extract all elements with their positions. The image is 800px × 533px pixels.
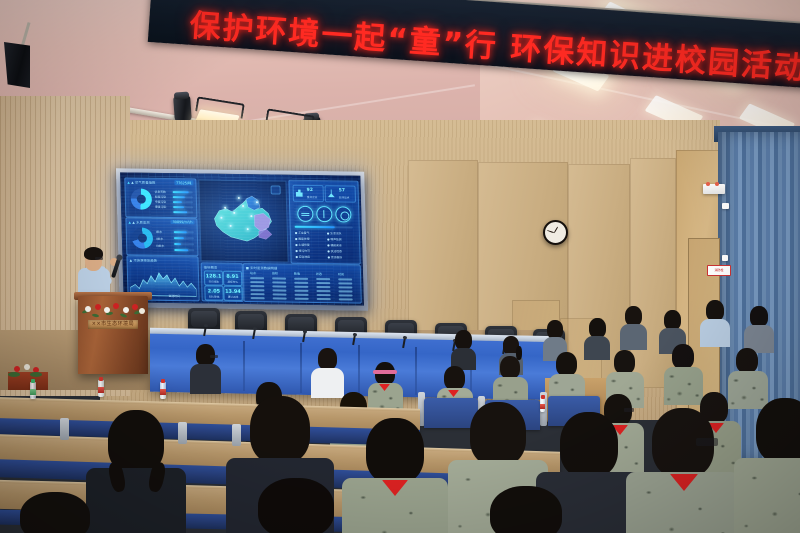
legend-label: II类水 <box>156 237 163 241</box>
bar-ammonia <box>174 237 184 239</box>
kpi-label: 累计减排 <box>225 295 242 299</box>
dashboard-display: ▲ ▲ 空气质量指数 77625/吨 优良天数 轻度污染 中度污染 重度污染 <box>120 172 364 305</box>
map-node <box>256 201 258 203</box>
stat-tile-enterprises: 92 重点企业 <box>293 185 324 202</box>
dashboard-card-kpis: 指标概览 128.1 日均排放 8.91 超标率% 2.05 同比降幅 13.9… <box>201 262 244 302</box>
wall-clock <box>543 220 568 245</box>
legend-label: I类水 <box>156 230 163 234</box>
kpi-box: 2.05 同比降幅 <box>204 285 223 300</box>
flower <box>24 364 30 370</box>
bar-phosphorus <box>174 243 181 245</box>
card-badge: 30899/m³/h <box>171 220 195 224</box>
bar-pm25 <box>173 191 189 193</box>
fire-safety-sign: 消防栓 <box>707 265 731 276</box>
stat-label: 监测站点 <box>339 195 349 199</box>
dashboard-card-data-table: ■ 实时监测数据明细 站点 指标 数值 状态 时间 <box>243 263 362 304</box>
region-map-card <box>198 179 288 262</box>
legend-label: III类水 <box>156 244 164 248</box>
table-column-header: 数值 <box>294 272 300 276</box>
glasses <box>210 355 218 358</box>
card-title: 指标概览 <box>204 264 218 269</box>
map-node <box>220 217 222 219</box>
stat-value: 57 <box>339 188 345 193</box>
photo-scene: 保护环境一起“童”行 环保知识进校园活动 <box>0 0 800 533</box>
emergency-exit-light <box>703 184 725 194</box>
seat-bracket <box>178 422 187 444</box>
par-can-light <box>173 95 192 122</box>
kpi-box: 128.1 日均排放 <box>204 270 223 285</box>
water-bottle <box>540 398 545 412</box>
skirt-fold <box>243 341 245 391</box>
glasses <box>624 408 634 412</box>
card-title: ▲ ▲ 空气质量指数 <box>127 179 155 184</box>
ring-gauge-icon <box>297 206 313 222</box>
province-map <box>208 193 280 250</box>
legend-label: 优良天数 <box>155 190 166 194</box>
right-bar <box>295 226 335 229</box>
kpi-box: 8.91 超标率% <box>223 271 242 286</box>
legend-label: 轻度污染 <box>155 195 166 199</box>
donut-chart <box>132 227 154 248</box>
stat-tile-stations: 57 监测站点 <box>325 185 356 202</box>
map-node <box>233 212 235 214</box>
dashboard-card-water-quality: ▲ ▲ 水质监测 30899/m³/h I类水 II类水 III类水 <box>125 217 198 256</box>
stat-label: 重点企业 <box>307 194 317 198</box>
card-badge: 77625/吨 <box>174 180 193 185</box>
presenter-glasses <box>95 257 103 260</box>
table-column-header: 时间 <box>338 272 344 276</box>
kpi-value: 8.91 <box>224 273 241 279</box>
kpi-value: 13.94 <box>224 288 241 294</box>
table-column-header: 状态 <box>316 272 322 276</box>
stat-value: 92 <box>307 188 313 193</box>
table-column-header: 指标 <box>272 271 278 275</box>
flower-arrangement <box>80 298 146 320</box>
ring-gauge-icon <box>335 206 351 222</box>
led-video-wall[interactable]: ▲ ▲ 空气质量指数 77625/吨 优良天数 轻度污染 中度污染 重度污染 <box>120 172 364 305</box>
bar-oxygen <box>174 249 188 251</box>
ring-gauge-icon <box>316 206 332 222</box>
map-node <box>230 225 232 227</box>
water-bottle <box>160 382 166 399</box>
ceiling-speaker <box>4 42 30 88</box>
foliage <box>30 372 42 377</box>
card-title: ▲ 污染源排放趋势 <box>129 257 157 262</box>
hair-band <box>373 370 397 374</box>
map-node <box>242 205 244 207</box>
map-node <box>238 197 240 199</box>
map-node <box>224 207 226 209</box>
podium-nameplate: ××市生态环境局 <box>88 320 138 329</box>
wall-sign <box>722 255 728 261</box>
seat-bracket <box>232 424 241 446</box>
bar-pm10 <box>173 196 185 198</box>
wall-sign <box>722 203 729 209</box>
dashboard-card-right-stats: 92 重点企业 57 监测站点 <box>288 180 360 265</box>
map-node <box>250 215 252 217</box>
skirt-fold <box>415 347 417 395</box>
water-bottle <box>30 382 36 399</box>
map-fullscreen-icon[interactable] <box>271 185 281 194</box>
legend-label: 重度污染 <box>155 205 166 209</box>
kpi-label: 日均排放 <box>205 279 222 283</box>
donut-chart <box>131 188 153 209</box>
axis-label: 监测时间 <box>169 294 180 298</box>
skirt-fold <box>358 345 360 395</box>
factory-icon <box>296 189 303 197</box>
seat-bracket <box>60 418 69 440</box>
kpi-label: 超标率% <box>224 280 241 284</box>
dashboard-card-air-quality: ▲ ▲ 空气质量指数 77625/吨 优良天数 轻度污染 中度污染 重度污染 <box>124 177 197 218</box>
table-column-header: 站点 <box>250 271 256 275</box>
kpi-value: 2.05 <box>205 288 222 294</box>
bar-o3 <box>173 211 187 213</box>
bar-no2 <box>173 206 184 208</box>
map-node <box>247 228 249 230</box>
kpi-value: 128.1 <box>205 273 222 279</box>
table-title: ■ 实时监测数据明细 <box>246 265 278 270</box>
skirt-fold <box>300 343 302 393</box>
legend-label: 中度污染 <box>155 200 166 204</box>
water-bottle <box>98 380 104 397</box>
kpi-box: 13.94 累计减排 <box>223 286 242 301</box>
sensor-icon <box>328 189 335 197</box>
kpi-label: 同比降幅 <box>206 294 223 298</box>
card-title: ▲ ▲ 水质监测 <box>128 219 149 224</box>
bar-cod <box>174 231 187 233</box>
glasses <box>696 438 718 446</box>
foliage <box>8 372 20 377</box>
bar-so2 <box>173 201 182 203</box>
